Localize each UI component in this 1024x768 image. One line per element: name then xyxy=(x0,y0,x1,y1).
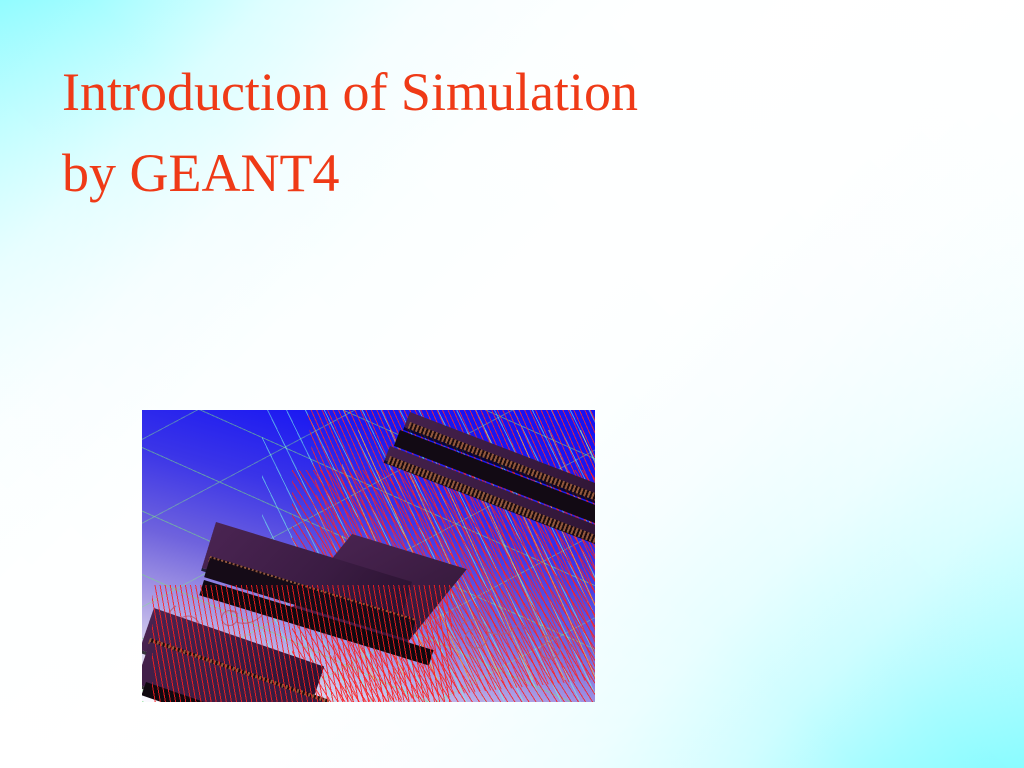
geant4-simulation-image xyxy=(142,410,595,702)
title-line-2: by GEANT4 xyxy=(62,133,882,214)
red-tracks-lower xyxy=(152,585,452,702)
slide-title: Introduction of Simulation by GEANT4 xyxy=(62,52,882,214)
title-line-1: Introduction of Simulation xyxy=(62,52,882,133)
presentation-slide: Introduction of Simulation by GEANT4 xyxy=(0,0,1024,768)
